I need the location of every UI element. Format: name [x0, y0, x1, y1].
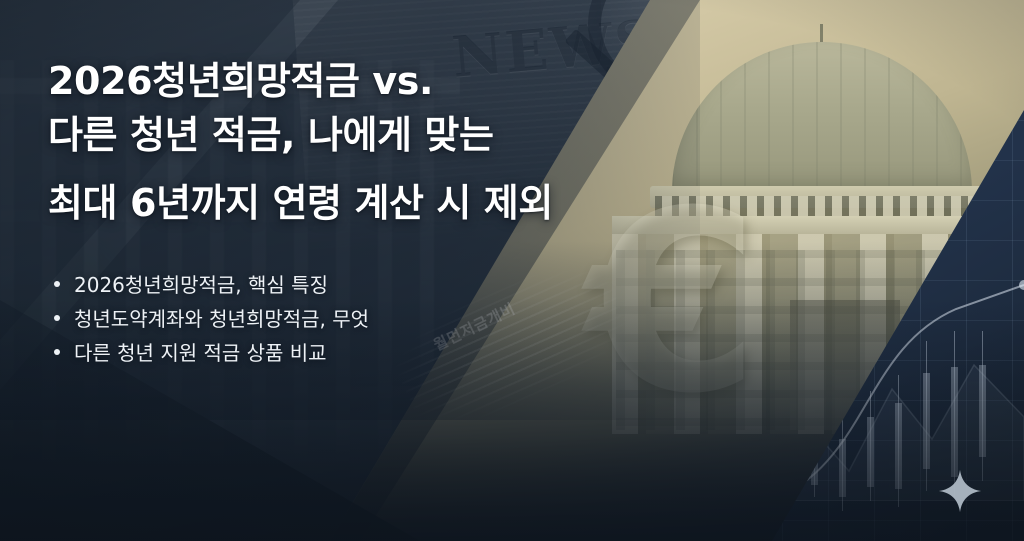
thumbnail-canvas: NEWS Ai €: [0, 0, 1024, 541]
bullet-label: 청년도약계좌와 청년희망적금, 무엇: [74, 307, 369, 331]
list-item: 2026청년희망적금, 핵심 특징: [54, 268, 688, 302]
headline-line-2: 다른 청년 적금, 나에게 맞는: [48, 108, 688, 162]
bullet-dot-icon: [54, 349, 60, 355]
headline-line-1: 2026청년희망적금 vs.: [48, 54, 688, 108]
headline-block: 2026청년희망적금 vs. 다른 청년 적금, 나에게 맞는 최대 6년까지 …: [48, 54, 688, 370]
list-item: 청년도약계좌와 청년희망적금, 무엇: [54, 302, 688, 336]
headline-line-3: 최대 6년까지 연령 계산 시 제외: [48, 176, 688, 230]
bullet-dot-icon: [54, 281, 60, 287]
bullet-label: 다른 청년 지원 적금 상품 비교: [74, 341, 327, 365]
bullet-list: 2026청년희망적금, 핵심 특징 청년도약계좌와 청년희망적금, 무엇 다른 …: [54, 268, 688, 370]
bullet-label: 2026청년희망적금, 핵심 특징: [74, 273, 328, 297]
list-item: 다른 청년 지원 적금 상품 비교: [54, 336, 688, 370]
bullet-dot-icon: [54, 315, 60, 321]
sparkle-icon: [938, 469, 982, 513]
